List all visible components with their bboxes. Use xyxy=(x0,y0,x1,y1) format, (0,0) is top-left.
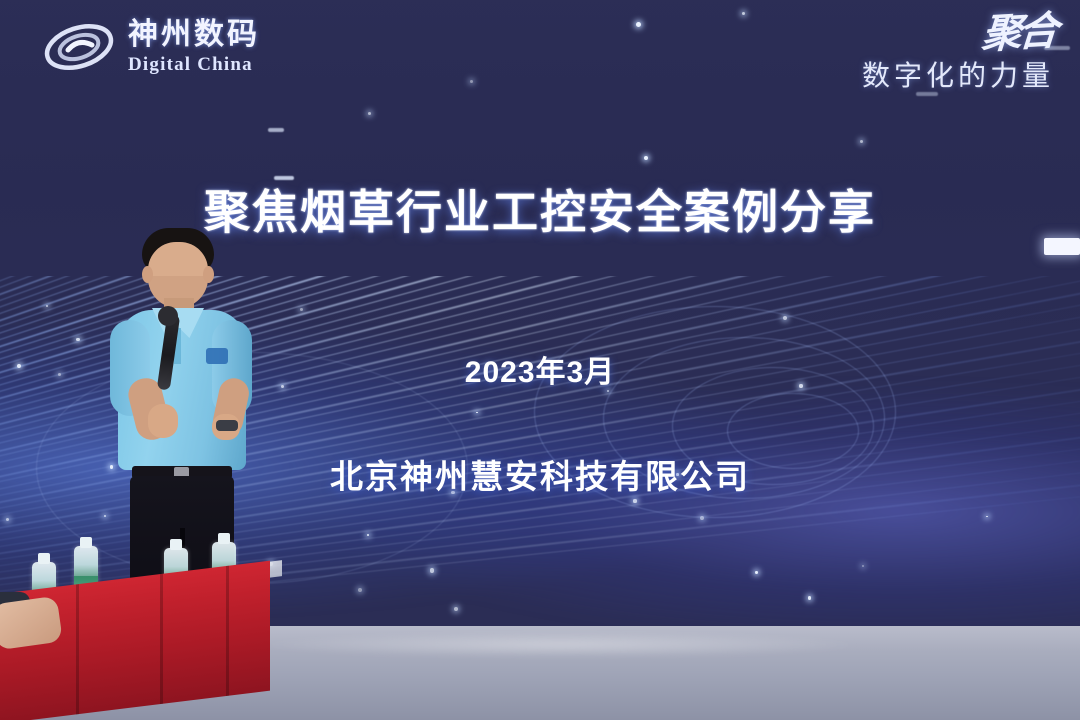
cloth-fold xyxy=(76,584,79,714)
bottle-cap xyxy=(170,539,182,550)
microphone-head xyxy=(158,306,178,326)
bottle-cap xyxy=(38,553,50,564)
brand-name-cn: 神州数码 xyxy=(128,20,260,50)
speaker-ear-right xyxy=(203,266,214,283)
speaker-chest-logo xyxy=(206,348,228,364)
presentation-photo: 神州数码 Digital China 聚合 数字化的力量 聚焦烟草行业工控安全案… xyxy=(0,0,1080,720)
speaker-hand-left xyxy=(148,404,178,438)
light-dash xyxy=(268,128,284,132)
light-particle xyxy=(644,156,648,160)
event-tagline: 数字化的力量 xyxy=(862,54,1054,94)
stage-light-bar xyxy=(1044,238,1080,255)
bottle-cap xyxy=(80,537,92,548)
light-particle xyxy=(742,12,745,15)
brand-logo-text: 神州数码 Digital China xyxy=(128,20,260,74)
floor-reflection xyxy=(250,632,870,658)
light-particle xyxy=(368,112,371,115)
event-calligraphy: 聚合 xyxy=(980,12,1055,54)
light-particle xyxy=(470,80,473,83)
light-particle xyxy=(860,140,863,143)
cloth-fold xyxy=(160,574,163,704)
speaker-ear-left xyxy=(142,266,153,283)
presentation-clicker xyxy=(216,420,238,431)
brand-name-en: Digital China xyxy=(128,55,260,74)
spiral-galaxy-logo-icon xyxy=(42,16,116,78)
light-particle xyxy=(636,22,641,27)
cloth-fold xyxy=(226,566,229,696)
brand-logo: 神州数码 Digital China xyxy=(42,16,260,78)
event-mark: 聚合 数字化的力量 xyxy=(862,14,1054,94)
bottle-cap xyxy=(218,533,230,544)
